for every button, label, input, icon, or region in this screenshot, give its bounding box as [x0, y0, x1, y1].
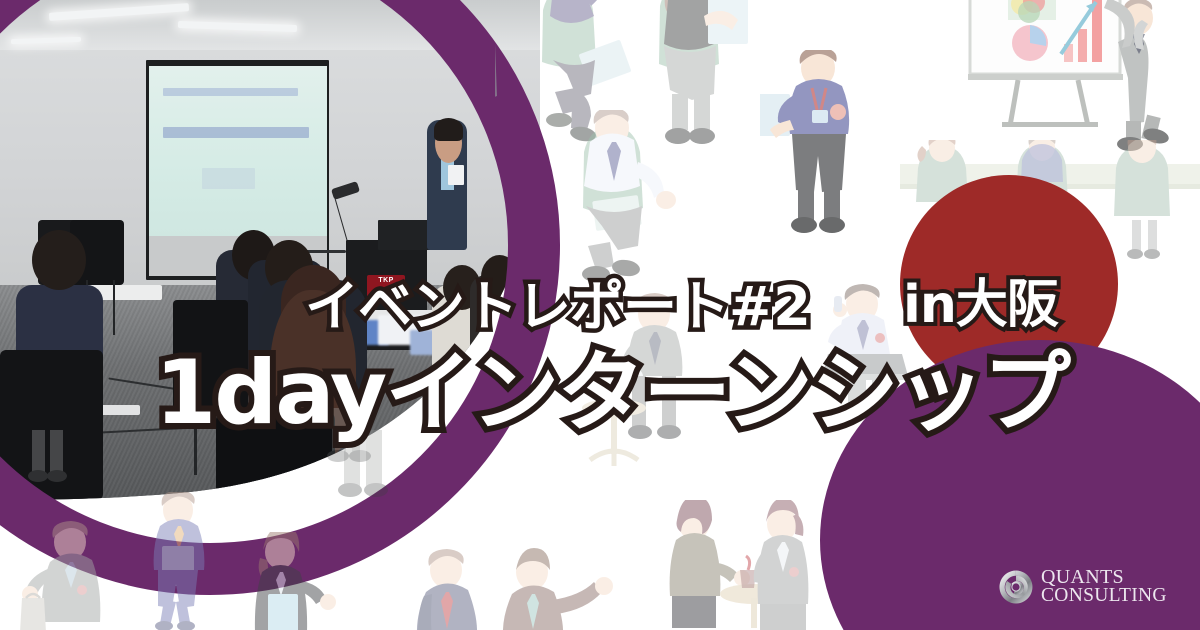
- person-pointing-illustration: [488, 548, 618, 630]
- person-presenting-illustration: [232, 532, 342, 630]
- quants-consulting-logo: QUANTS CONSULTING: [998, 568, 1167, 606]
- walking-person-illustration: [130, 492, 230, 630]
- standing-person-lanyard-illustration: [760, 50, 890, 250]
- person-suit-illustration: [400, 548, 500, 630]
- quants-spiral-mark: [998, 569, 1034, 605]
- brand-ring-arc: [0, 0, 560, 595]
- seated-man-illustration: [560, 110, 750, 290]
- logo-line-2: CONSULTING: [1041, 587, 1167, 606]
- person-at-hightable-illustration: [570, 290, 740, 480]
- poster-canvas: TKP: [0, 0, 1200, 630]
- location-badge-label: in大阪: [903, 262, 1058, 337]
- two-people-cafe-table-illustration: [660, 500, 820, 630]
- legs-illustration-c: [320, 408, 384, 478]
- standing-person-bag-illustration: [20, 520, 130, 630]
- legs-illustration-b: [22, 430, 82, 500]
